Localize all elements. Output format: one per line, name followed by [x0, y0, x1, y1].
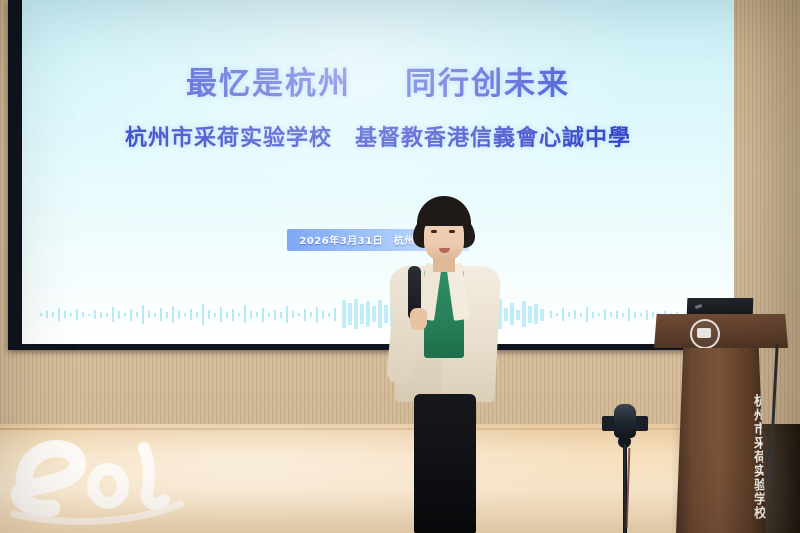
slide-date-location-badge: 2026年3月31日 杭州市上城区 — [22, 229, 734, 251]
lectern-top — [654, 314, 788, 348]
mic-bracket-right — [634, 416, 648, 431]
school-crest-emblem — [690, 319, 720, 349]
lectern-cable — [768, 344, 778, 484]
presenter — [386, 196, 504, 533]
slide-title-left: 最忆是杭州 — [186, 58, 351, 103]
lectern: 杭州市采荷实验学校 — [654, 314, 788, 533]
floor-microphone-stand — [600, 404, 652, 533]
presenter-bangs — [419, 206, 469, 226]
slide-title-row: 最忆是杭州 同行创未来 — [22, 58, 734, 103]
slide-subtitle: 杭州市采荷实验学校 基督教香港信義會心誠中學 — [22, 120, 734, 152]
photo-scene: 最忆是杭州 同行创未来 杭州市采荷实验学校 基督教香港信義會心誠中學 2026年… — [0, 0, 800, 533]
audio-waveform-graphic — [30, 296, 720, 332]
monitor-highlight — [695, 304, 703, 309]
stand-microphone-head — [614, 404, 636, 438]
projection-screen: 最忆是杭州 同行创未来 杭州市采荷实验学校 基督教香港信義會心誠中學 2026年… — [22, 0, 734, 344]
presenter-eye-right — [449, 230, 455, 233]
presenter-hand — [410, 308, 427, 330]
projector-glow — [22, 0, 734, 344]
lectern-school-name: 杭州市采荷实验学校 — [676, 394, 766, 520]
presenter-eye-left — [431, 230, 437, 233]
slide-title-right: 同行创未来 — [405, 58, 570, 103]
projection-screen-frame: 最忆是杭州 同行创未来 杭州市采荷实验学校 基督教香港信義會心誠中學 2026年… — [8, 0, 730, 350]
lectern-body: 杭州市采荷实验学校 — [676, 348, 766, 533]
presenter-trousers — [414, 394, 476, 533]
